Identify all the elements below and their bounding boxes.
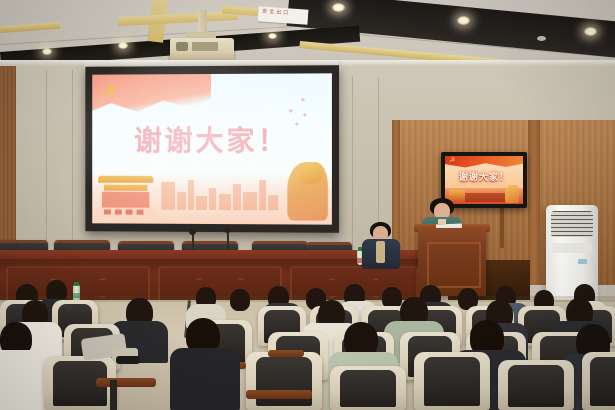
tv-hammer-sickle-icon: ☭ — [449, 157, 455, 165]
seat-pedestal — [110, 380, 117, 410]
skyline-building — [177, 192, 186, 210]
tv-stone-lion — [505, 185, 519, 203]
smoke-detector-icon — [537, 36, 546, 41]
ac-vent-grill — [551, 211, 593, 237]
microphone-head-icon — [224, 227, 231, 233]
ceiling-downlight — [118, 42, 128, 49]
skyline-building — [233, 184, 241, 210]
hammer-sickle-icon: ☭ — [103, 83, 118, 98]
skyline-building — [209, 188, 216, 210]
skyline-building — [259, 180, 266, 210]
left-wood-trim — [0, 66, 16, 266]
microphone-head-icon — [189, 229, 196, 235]
wall-panel-seam — [72, 70, 73, 260]
audience-torso — [170, 348, 240, 410]
ceiling-downlight — [42, 48, 52, 55]
ceiling-downlight — [268, 33, 277, 39]
audience-shoe-sole — [116, 356, 140, 364]
ceiling-downlight — [584, 27, 597, 36]
skyline-building — [161, 182, 175, 210]
seat-armrest — [96, 378, 156, 387]
seat-armrest — [268, 350, 304, 357]
wall-panel-seam — [46, 70, 47, 260]
tv-slide: ☭ 谢谢大家！ — [445, 156, 523, 204]
tv-skyline — [461, 193, 507, 202]
ceiling-downlight — [457, 16, 470, 25]
skyline-building — [219, 194, 231, 210]
auditorium-seat[interactable] — [582, 352, 615, 410]
wall-panel-seam — [352, 76, 353, 251]
ceiling-downlight — [332, 3, 345, 12]
skyline-building — [196, 196, 207, 210]
main-projection-screen: ☭ ✦✦✦✦ 谢谢大家！ — [85, 65, 339, 233]
seated-host — [360, 222, 402, 268]
ac-control-panel — [552, 243, 592, 253]
skyline-building — [268, 195, 278, 210]
gooseneck-microphone — [192, 232, 194, 252]
host-shirt — [376, 241, 385, 263]
auditorium-seat[interactable] — [246, 352, 322, 410]
projected-slide: ☭ ✦✦✦✦ 谢谢大家！ — [92, 73, 332, 224]
tiananmen-gate-graphic — [96, 174, 157, 218]
skyline-building — [243, 192, 257, 210]
auditorium-seat[interactable] — [498, 360, 574, 410]
projector-lens-icon — [176, 42, 188, 51]
tv-slide-title: 谢谢大家！ — [445, 170, 523, 183]
auditorium-seat[interactable] — [414, 352, 490, 410]
projector-vent — [192, 42, 218, 51]
lectern-panel — [427, 242, 481, 288]
skyline-building — [188, 180, 194, 210]
lecture-hall-photo: 安全出口 ☭ ✦✦✦✦ 谢谢大家！ — [0, 0, 615, 410]
ac-display-icon — [578, 259, 587, 264]
stone-lion-head — [299, 164, 321, 184]
gooseneck-microphone — [227, 230, 229, 252]
audience-head — [230, 289, 250, 311]
tv-flag-graphic — [445, 156, 523, 170]
auditorium-seat[interactable] — [330, 366, 406, 410]
slide-title: 谢谢大家！ — [92, 119, 332, 159]
seat-armrest — [246, 390, 312, 399]
